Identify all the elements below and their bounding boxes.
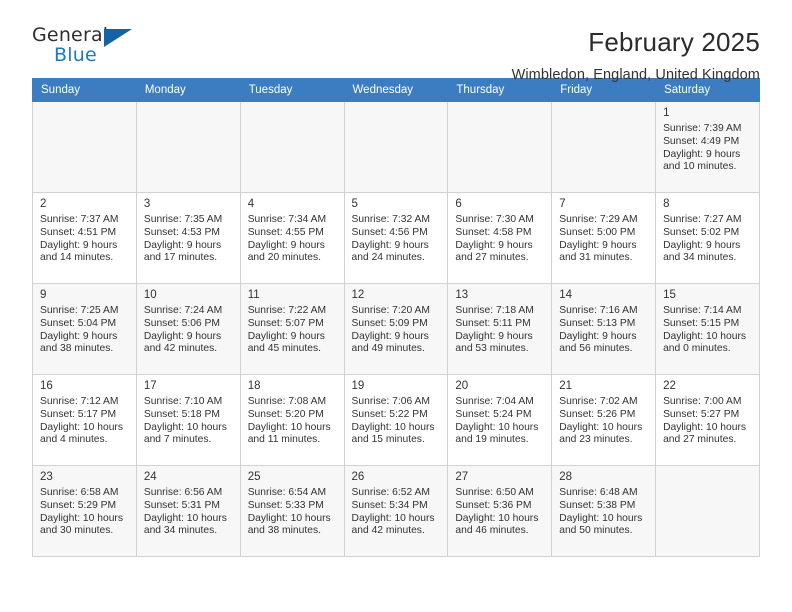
- day-number: 19: [352, 379, 442, 394]
- sun-times-line: Sunset: 5:24 PM: [455, 409, 545, 422]
- calendar-cell-content: 9Sunrise: 7:25 AMSunset: 5:04 PMDaylight…: [33, 284, 136, 356]
- page-subtitle: Wimbledon, England, United Kingdom: [512, 67, 760, 83]
- day-number: 20: [455, 379, 545, 394]
- sun-times: Sunrise: 7:02 AMSunset: 5:26 PMDaylight:…: [559, 396, 649, 447]
- day-number: 26: [352, 470, 442, 485]
- sun-times: Sunrise: 7:29 AMSunset: 5:00 PMDaylight:…: [559, 214, 649, 265]
- sun-times: Sunrise: 7:18 AMSunset: 5:11 PMDaylight:…: [455, 305, 545, 356]
- sun-times-line: and 30 minutes.: [40, 525, 130, 538]
- calendar-day-cell[interactable]: 3Sunrise: 7:35 AMSunset: 4:53 PMDaylight…: [136, 193, 240, 284]
- sun-times-line: Daylight: 9 hours: [559, 331, 649, 344]
- sun-times-line: Sunrise: 7:37 AM: [40, 214, 130, 227]
- calendar-empty-cell: [656, 466, 760, 557]
- sun-times: Sunrise: 7:34 AMSunset: 4:55 PMDaylight:…: [248, 214, 338, 265]
- sun-times-line: and 19 minutes.: [455, 434, 545, 447]
- sun-times-line: Sunrise: 6:54 AM: [248, 487, 338, 500]
- sun-times-line: Sunset: 4:53 PM: [144, 227, 234, 240]
- sun-times-line: Sunrise: 7:30 AM: [455, 214, 545, 227]
- calendar-cell-content: 13Sunrise: 7:18 AMSunset: 5:11 PMDayligh…: [448, 284, 551, 356]
- day-number: 13: [455, 288, 545, 303]
- sun-times-line: Sunrise: 7:34 AM: [248, 214, 338, 227]
- sun-times-line: Sunrise: 7:12 AM: [40, 396, 130, 409]
- calendar-cell-content: 12Sunrise: 7:20 AMSunset: 5:09 PMDayligh…: [345, 284, 448, 356]
- sun-times-line: Sunrise: 7:22 AM: [248, 305, 338, 318]
- sun-times-line: Sunset: 4:58 PM: [455, 227, 545, 240]
- calendar-cell-content: 2Sunrise: 7:37 AMSunset: 4:51 PMDaylight…: [33, 193, 136, 265]
- calendar-day-cell[interactable]: 9Sunrise: 7:25 AMSunset: 5:04 PMDaylight…: [33, 284, 137, 375]
- sun-times-line: Daylight: 10 hours: [248, 422, 338, 435]
- calendar-cell-content: 14Sunrise: 7:16 AMSunset: 5:13 PMDayligh…: [552, 284, 655, 356]
- day-number: 7: [559, 197, 649, 212]
- sun-times: Sunrise: 7:04 AMSunset: 5:24 PMDaylight:…: [455, 396, 545, 447]
- calendar-page: General Blue February 2025 Wimbledon, En…: [0, 0, 792, 612]
- sun-times-line: and 31 minutes.: [559, 252, 649, 265]
- sun-times-line: Sunset: 5:07 PM: [248, 318, 338, 331]
- calendar-day-cell[interactable]: 12Sunrise: 7:20 AMSunset: 5:09 PMDayligh…: [344, 284, 448, 375]
- sun-times-line: Daylight: 9 hours: [144, 331, 234, 344]
- sun-times-line: and 11 minutes.: [248, 434, 338, 447]
- sun-times-line: Daylight: 9 hours: [352, 331, 442, 344]
- calendar-cell-content: 11Sunrise: 7:22 AMSunset: 5:07 PMDayligh…: [241, 284, 344, 356]
- sun-times-line: Sunset: 5:36 PM: [455, 500, 545, 513]
- calendar-day-cell[interactable]: 13Sunrise: 7:18 AMSunset: 5:11 PMDayligh…: [448, 284, 552, 375]
- sun-times-line: Sunset: 5:00 PM: [559, 227, 649, 240]
- sun-times-line: and 38 minutes.: [40, 343, 130, 356]
- calendar-day-cell[interactable]: 24Sunrise: 6:56 AMSunset: 5:31 PMDayligh…: [136, 466, 240, 557]
- sun-times-line: Sunset: 5:38 PM: [559, 500, 649, 513]
- calendar-day-cell[interactable]: 22Sunrise: 7:00 AMSunset: 5:27 PMDayligh…: [656, 375, 760, 466]
- sun-times-line: Daylight: 10 hours: [40, 422, 130, 435]
- calendar-cell-content: 6Sunrise: 7:30 AMSunset: 4:58 PMDaylight…: [448, 193, 551, 265]
- day-number: 23: [40, 470, 130, 485]
- logo-text-blue: Blue: [54, 46, 142, 65]
- sun-times: Sunrise: 7:10 AMSunset: 5:18 PMDaylight:…: [144, 396, 234, 447]
- sun-times: Sunrise: 7:37 AMSunset: 4:51 PMDaylight:…: [40, 214, 130, 265]
- sun-times-line: and 4 minutes.: [40, 434, 130, 447]
- sun-times-line: Daylight: 9 hours: [663, 149, 753, 162]
- sun-times-line: Sunset: 5:17 PM: [40, 409, 130, 422]
- sun-times-line: Daylight: 10 hours: [144, 422, 234, 435]
- logo-general-blue[interactable]: General Blue: [32, 26, 142, 74]
- sun-times-line: Sunrise: 7:18 AM: [455, 305, 545, 318]
- day-number: 10: [144, 288, 234, 303]
- sun-times-line: Sunrise: 6:52 AM: [352, 487, 442, 500]
- sun-times: Sunrise: 6:48 AMSunset: 5:38 PMDaylight:…: [559, 487, 649, 538]
- sun-times-line: Sunset: 5:04 PM: [40, 318, 130, 331]
- logo-triangle-icon: [104, 29, 132, 47]
- sun-times-line: Sunrise: 7:04 AM: [455, 396, 545, 409]
- sun-times-line: Sunrise: 7:10 AM: [144, 396, 234, 409]
- calendar-cell-content: 7Sunrise: 7:29 AMSunset: 5:00 PMDaylight…: [552, 193, 655, 265]
- sun-times-line: and 14 minutes.: [40, 252, 130, 265]
- calendar-empty-cell: [448, 102, 552, 193]
- sun-times: Sunrise: 6:56 AMSunset: 5:31 PMDaylight:…: [144, 487, 234, 538]
- sun-times-line: Sunrise: 7:24 AM: [144, 305, 234, 318]
- sun-times-line: and 27 minutes.: [455, 252, 545, 265]
- sun-times-line: Sunrise: 7:39 AM: [663, 123, 753, 136]
- weekday-header-sunday: Sunday: [33, 79, 137, 102]
- calendar-cell-content: 24Sunrise: 6:56 AMSunset: 5:31 PMDayligh…: [137, 466, 240, 538]
- page-header: General Blue February 2025 Wimbledon, En…: [32, 0, 760, 72]
- sun-times-line: and 46 minutes.: [455, 525, 545, 538]
- sun-times-line: Daylight: 9 hours: [40, 331, 130, 344]
- calendar-day-cell[interactable]: 5Sunrise: 7:32 AMSunset: 4:56 PMDaylight…: [344, 193, 448, 284]
- sun-times-line: Sunrise: 7:14 AM: [663, 305, 753, 318]
- calendar-day-cell[interactable]: 17Sunrise: 7:10 AMSunset: 5:18 PMDayligh…: [136, 375, 240, 466]
- calendar-empty-cell: [136, 102, 240, 193]
- weekday-header-tuesday: Tuesday: [240, 79, 344, 102]
- sun-times-line: and 42 minutes.: [144, 343, 234, 356]
- calendar-week-row: 16Sunrise: 7:12 AMSunset: 5:17 PMDayligh…: [33, 375, 760, 466]
- sun-times-line: and 27 minutes.: [663, 434, 753, 447]
- day-number: 24: [144, 470, 234, 485]
- calendar-cell-content: 4Sunrise: 7:34 AMSunset: 4:55 PMDaylight…: [241, 193, 344, 265]
- sun-times-line: and 0 minutes.: [663, 343, 753, 356]
- calendar-cell-content: 5Sunrise: 7:32 AMSunset: 4:56 PMDaylight…: [345, 193, 448, 265]
- weekday-header-wednesday: Wednesday: [344, 79, 448, 102]
- sun-times-line: Sunrise: 7:00 AM: [663, 396, 753, 409]
- sun-times-line: Daylight: 10 hours: [248, 513, 338, 526]
- sun-times: Sunrise: 7:20 AMSunset: 5:09 PMDaylight:…: [352, 305, 442, 356]
- sun-times-line: Sunrise: 7:02 AM: [559, 396, 649, 409]
- sun-times: Sunrise: 7:27 AMSunset: 5:02 PMDaylight:…: [663, 214, 753, 265]
- sun-times-line: Sunset: 5:27 PM: [663, 409, 753, 422]
- sun-times-line: Sunrise: 7:27 AM: [663, 214, 753, 227]
- sun-times-line: Sunrise: 7:06 AM: [352, 396, 442, 409]
- sun-times-line: and 24 minutes.: [352, 252, 442, 265]
- day-number: 6: [455, 197, 545, 212]
- sun-times-line: Daylight: 9 hours: [559, 240, 649, 253]
- day-number: 25: [248, 470, 338, 485]
- sun-times-line: Sunset: 5:13 PM: [559, 318, 649, 331]
- sun-times-line: Sunset: 4:56 PM: [352, 227, 442, 240]
- sun-times: Sunrise: 7:22 AMSunset: 5:07 PMDaylight:…: [248, 305, 338, 356]
- sun-times: Sunrise: 6:50 AMSunset: 5:36 PMDaylight:…: [455, 487, 545, 538]
- sun-times-line: and 49 minutes.: [352, 343, 442, 356]
- sun-times: Sunrise: 7:32 AMSunset: 4:56 PMDaylight:…: [352, 214, 442, 265]
- sun-times: Sunrise: 7:14 AMSunset: 5:15 PMDaylight:…: [663, 305, 753, 356]
- day-number: 2: [40, 197, 130, 212]
- sun-times-line: and 34 minutes.: [144, 525, 234, 538]
- sun-times-line: Sunrise: 7:25 AM: [40, 305, 130, 318]
- month-calendar: Sunday Monday Tuesday Wednesday Thursday…: [32, 78, 760, 557]
- calendar-cell-content: 10Sunrise: 7:24 AMSunset: 5:06 PMDayligh…: [137, 284, 240, 356]
- sun-times-line: Sunrise: 7:20 AM: [352, 305, 442, 318]
- day-number: 28: [559, 470, 649, 485]
- day-number: 17: [144, 379, 234, 394]
- sun-times-line: Sunset: 5:06 PM: [144, 318, 234, 331]
- sun-times: Sunrise: 7:08 AMSunset: 5:20 PMDaylight:…: [248, 396, 338, 447]
- sun-times-line: and 15 minutes.: [352, 434, 442, 447]
- calendar-day-cell[interactable]: 21Sunrise: 7:02 AMSunset: 5:26 PMDayligh…: [552, 375, 656, 466]
- sun-times-line: Sunrise: 7:29 AM: [559, 214, 649, 227]
- calendar-cell-content: 15Sunrise: 7:14 AMSunset: 5:15 PMDayligh…: [656, 284, 759, 356]
- sun-times-line: Sunset: 5:15 PM: [663, 318, 753, 331]
- sun-times-line: Sunset: 4:51 PM: [40, 227, 130, 240]
- calendar-cell-content: 27Sunrise: 6:50 AMSunset: 5:36 PMDayligh…: [448, 466, 551, 538]
- sun-times-line: Daylight: 9 hours: [352, 240, 442, 253]
- calendar-day-cell[interactable]: 18Sunrise: 7:08 AMSunset: 5:20 PMDayligh…: [240, 375, 344, 466]
- sun-times-line: Sunset: 5:34 PM: [352, 500, 442, 513]
- sun-times-line: Sunset: 5:33 PM: [248, 500, 338, 513]
- sun-times-line: Daylight: 9 hours: [144, 240, 234, 253]
- calendar-cell-content: 8Sunrise: 7:27 AMSunset: 5:02 PMDaylight…: [656, 193, 759, 265]
- sun-times-line: and 23 minutes.: [559, 434, 649, 447]
- sun-times-line: Daylight: 10 hours: [455, 422, 545, 435]
- sun-times-line: Sunrise: 7:35 AM: [144, 214, 234, 227]
- sun-times-line: Sunrise: 6:50 AM: [455, 487, 545, 500]
- calendar-day-cell[interactable]: 14Sunrise: 7:16 AMSunset: 5:13 PMDayligh…: [552, 284, 656, 375]
- calendar-week-row: 1Sunrise: 7:39 AMSunset: 4:49 PMDaylight…: [33, 102, 760, 193]
- calendar-cell-content: 3Sunrise: 7:35 AMSunset: 4:53 PMDaylight…: [137, 193, 240, 265]
- day-number: 1: [663, 106, 753, 121]
- sun-times-line: Sunrise: 7:32 AM: [352, 214, 442, 227]
- sun-times: Sunrise: 7:39 AMSunset: 4:49 PMDaylight:…: [663, 123, 753, 174]
- day-number: 12: [352, 288, 442, 303]
- day-number: 9: [40, 288, 130, 303]
- calendar-day-cell[interactable]: 10Sunrise: 7:24 AMSunset: 5:06 PMDayligh…: [136, 284, 240, 375]
- sun-times-line: Daylight: 10 hours: [559, 513, 649, 526]
- sun-times-line: Sunrise: 7:08 AM: [248, 396, 338, 409]
- sun-times-line: Daylight: 9 hours: [248, 331, 338, 344]
- sun-times-line: Daylight: 9 hours: [248, 240, 338, 253]
- day-number: 22: [663, 379, 753, 394]
- sun-times-line: and 10 minutes.: [663, 161, 753, 174]
- calendar-day-cell[interactable]: 16Sunrise: 7:12 AMSunset: 5:17 PMDayligh…: [33, 375, 137, 466]
- sun-times-line: Daylight: 10 hours: [663, 422, 753, 435]
- calendar-empty-cell: [240, 102, 344, 193]
- day-number: 14: [559, 288, 649, 303]
- sun-times-line: Daylight: 10 hours: [455, 513, 545, 526]
- sun-times-line: Sunset: 5:20 PM: [248, 409, 338, 422]
- calendar-day-cell[interactable]: 23Sunrise: 6:58 AMSunset: 5:29 PMDayligh…: [33, 466, 137, 557]
- calendar-week-row: 23Sunrise: 6:58 AMSunset: 5:29 PMDayligh…: [33, 466, 760, 557]
- calendar-day-cell[interactable]: 7Sunrise: 7:29 AMSunset: 5:00 PMDaylight…: [552, 193, 656, 284]
- day-number: 5: [352, 197, 442, 212]
- sun-times-line: Sunset: 4:49 PM: [663, 136, 753, 149]
- sun-times-line: and 53 minutes.: [455, 343, 545, 356]
- calendar-cell-content: 25Sunrise: 6:54 AMSunset: 5:33 PMDayligh…: [241, 466, 344, 538]
- sun-times-line: Daylight: 10 hours: [663, 331, 753, 344]
- day-number: 16: [40, 379, 130, 394]
- sun-times: Sunrise: 7:16 AMSunset: 5:13 PMDaylight:…: [559, 305, 649, 356]
- sun-times: Sunrise: 7:30 AMSunset: 4:58 PMDaylight:…: [455, 214, 545, 265]
- sun-times-line: Sunset: 5:11 PM: [455, 318, 545, 331]
- sun-times-line: and 45 minutes.: [248, 343, 338, 356]
- sun-times-line: and 17 minutes.: [144, 252, 234, 265]
- day-number: 3: [144, 197, 234, 212]
- sun-times-line: Daylight: 10 hours: [352, 513, 442, 526]
- sun-times: Sunrise: 6:54 AMSunset: 5:33 PMDaylight:…: [248, 487, 338, 538]
- calendar-day-cell[interactable]: 27Sunrise: 6:50 AMSunset: 5:36 PMDayligh…: [448, 466, 552, 557]
- sun-times-line: Sunrise: 6:58 AM: [40, 487, 130, 500]
- sun-times-line: and 20 minutes.: [248, 252, 338, 265]
- calendar-day-cell[interactable]: 25Sunrise: 6:54 AMSunset: 5:33 PMDayligh…: [240, 466, 344, 557]
- calendar-empty-cell: [552, 102, 656, 193]
- sun-times-line: Sunset: 5:22 PM: [352, 409, 442, 422]
- calendar-cell-content: 17Sunrise: 7:10 AMSunset: 5:18 PMDayligh…: [137, 375, 240, 447]
- calendar-day-cell[interactable]: 6Sunrise: 7:30 AMSunset: 4:58 PMDaylight…: [448, 193, 552, 284]
- sun-times-line: and 56 minutes.: [559, 343, 649, 356]
- sun-times-line: Daylight: 9 hours: [455, 240, 545, 253]
- sun-times-line: Daylight: 9 hours: [455, 331, 545, 344]
- calendar-day-cell[interactable]: 19Sunrise: 7:06 AMSunset: 5:22 PMDayligh…: [344, 375, 448, 466]
- calendar-cell-content: 1Sunrise: 7:39 AMSunset: 4:49 PMDaylight…: [656, 102, 759, 174]
- calendar-week-row: 9Sunrise: 7:25 AMSunset: 5:04 PMDaylight…: [33, 284, 760, 375]
- sun-times-line: Daylight: 9 hours: [663, 240, 753, 253]
- title-block: February 2025 Wimbledon, England, United…: [512, 26, 760, 83]
- calendar-cell-content: 28Sunrise: 6:48 AMSunset: 5:38 PMDayligh…: [552, 466, 655, 538]
- sun-times-line: Daylight: 9 hours: [40, 240, 130, 253]
- sun-times-line: Sunset: 5:18 PM: [144, 409, 234, 422]
- sun-times-line: Sunset: 5:09 PM: [352, 318, 442, 331]
- day-number: 15: [663, 288, 753, 303]
- calendar-empty-cell: [344, 102, 448, 193]
- sun-times: Sunrise: 6:58 AMSunset: 5:29 PMDaylight:…: [40, 487, 130, 538]
- calendar-cell-content: 26Sunrise: 6:52 AMSunset: 5:34 PMDayligh…: [345, 466, 448, 538]
- calendar-cell-content: 18Sunrise: 7:08 AMSunset: 5:20 PMDayligh…: [241, 375, 344, 447]
- day-number: 18: [248, 379, 338, 394]
- calendar-body: 1Sunrise: 7:39 AMSunset: 4:49 PMDaylight…: [33, 102, 760, 557]
- calendar-day-cell[interactable]: 28Sunrise: 6:48 AMSunset: 5:38 PMDayligh…: [552, 466, 656, 557]
- sun-times-line: Daylight: 10 hours: [40, 513, 130, 526]
- calendar-empty-cell: [33, 102, 137, 193]
- calendar-day-cell[interactable]: 2Sunrise: 7:37 AMSunset: 4:51 PMDaylight…: [33, 193, 137, 284]
- sun-times-line: and 50 minutes.: [559, 525, 649, 538]
- sun-times: Sunrise: 7:24 AMSunset: 5:06 PMDaylight:…: [144, 305, 234, 356]
- calendar-cell-content: 22Sunrise: 7:00 AMSunset: 5:27 PMDayligh…: [656, 375, 759, 447]
- day-number: 21: [559, 379, 649, 394]
- calendar-cell-content: 23Sunrise: 6:58 AMSunset: 5:29 PMDayligh…: [33, 466, 136, 538]
- sun-times-line: Daylight: 10 hours: [144, 513, 234, 526]
- calendar-cell-content: 19Sunrise: 7:06 AMSunset: 5:22 PMDayligh…: [345, 375, 448, 447]
- calendar-cell-content: 20Sunrise: 7:04 AMSunset: 5:24 PMDayligh…: [448, 375, 551, 447]
- page-title: February 2025: [512, 28, 760, 57]
- calendar-day-cell[interactable]: 15Sunrise: 7:14 AMSunset: 5:15 PMDayligh…: [656, 284, 760, 375]
- sun-times: Sunrise: 7:00 AMSunset: 5:27 PMDaylight:…: [663, 396, 753, 447]
- sun-times-line: Sunset: 5:31 PM: [144, 500, 234, 513]
- sun-times-line: and 34 minutes.: [663, 252, 753, 265]
- sun-times: Sunrise: 7:35 AMSunset: 4:53 PMDaylight:…: [144, 214, 234, 265]
- sun-times-line: Sunrise: 6:56 AM: [144, 487, 234, 500]
- calendar-cell-content: 21Sunrise: 7:02 AMSunset: 5:26 PMDayligh…: [552, 375, 655, 447]
- calendar-day-cell[interactable]: 20Sunrise: 7:04 AMSunset: 5:24 PMDayligh…: [448, 375, 552, 466]
- sun-times: Sunrise: 6:52 AMSunset: 5:34 PMDaylight:…: [352, 487, 442, 538]
- sun-times-line: and 42 minutes.: [352, 525, 442, 538]
- day-number: 11: [248, 288, 338, 303]
- sun-times: Sunrise: 7:12 AMSunset: 5:17 PMDaylight:…: [40, 396, 130, 447]
- weekday-header-monday: Monday: [136, 79, 240, 102]
- sun-times: Sunrise: 7:06 AMSunset: 5:22 PMDaylight:…: [352, 396, 442, 447]
- day-number: 8: [663, 197, 753, 212]
- sun-times-line: and 7 minutes.: [144, 434, 234, 447]
- day-number: 4: [248, 197, 338, 212]
- sun-times: Sunrise: 7:25 AMSunset: 5:04 PMDaylight:…: [40, 305, 130, 356]
- sun-times-line: Sunset: 5:26 PM: [559, 409, 649, 422]
- sun-times-line: Daylight: 10 hours: [559, 422, 649, 435]
- day-number: 27: [455, 470, 545, 485]
- calendar-day-cell[interactable]: 4Sunrise: 7:34 AMSunset: 4:55 PMDaylight…: [240, 193, 344, 284]
- sun-times-line: Sunset: 5:29 PM: [40, 500, 130, 513]
- sun-times-line: Sunset: 4:55 PM: [248, 227, 338, 240]
- sun-times-line: and 38 minutes.: [248, 525, 338, 538]
- calendar-week-row: 2Sunrise: 7:37 AMSunset: 4:51 PMDaylight…: [33, 193, 760, 284]
- calendar-day-cell[interactable]: 26Sunrise: 6:52 AMSunset: 5:34 PMDayligh…: [344, 466, 448, 557]
- sun-times-line: Sunrise: 7:16 AM: [559, 305, 649, 318]
- sun-times-line: Sunset: 5:02 PM: [663, 227, 753, 240]
- sun-times-line: Daylight: 10 hours: [352, 422, 442, 435]
- sun-times-line: Sunrise: 6:48 AM: [559, 487, 649, 500]
- calendar-day-cell[interactable]: 1Sunrise: 7:39 AMSunset: 4:49 PMDaylight…: [656, 102, 760, 193]
- calendar-day-cell[interactable]: 8Sunrise: 7:27 AMSunset: 5:02 PMDaylight…: [656, 193, 760, 284]
- calendar-cell-content: 16Sunrise: 7:12 AMSunset: 5:17 PMDayligh…: [33, 375, 136, 447]
- calendar-day-cell[interactable]: 11Sunrise: 7:22 AMSunset: 5:07 PMDayligh…: [240, 284, 344, 375]
